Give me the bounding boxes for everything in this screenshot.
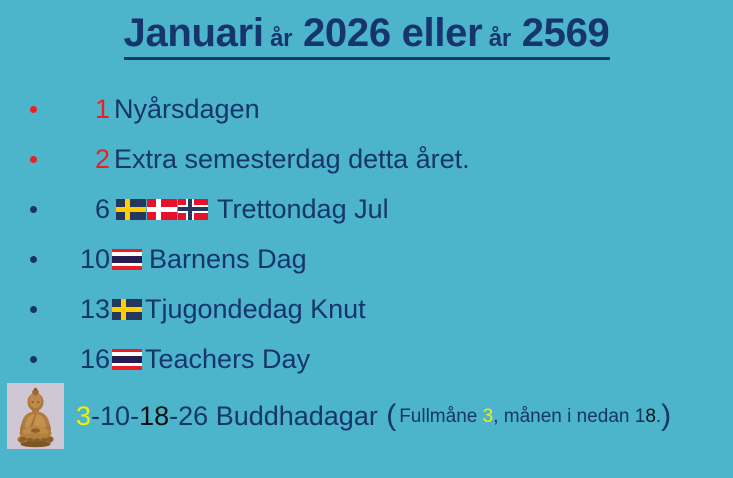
list-item-body: Nyårsdagen: [112, 96, 260, 123]
holiday-list: 1 Nyårsdagen 2 Extra semesterdag detta å…: [0, 84, 733, 384]
list-item-label: Nyårsdagen: [112, 96, 260, 123]
title-year-1: 2026: [292, 11, 391, 55]
moon-note: Fullmåne 3, månen i nedan 18.: [396, 407, 661, 426]
day-number: 10: [62, 246, 110, 273]
list-item: 6 Trettondag Jul: [0, 184, 733, 234]
bullet-icon: [30, 356, 37, 363]
thailand-flag-icon: [112, 249, 142, 270]
buddha-label: Buddhadagar: [208, 403, 378, 430]
buddha-statue-image: [7, 383, 64, 449]
moon-waning-day-digit-1: 1: [635, 406, 646, 427]
norway-flag-icon: [178, 199, 208, 220]
list-item-body: Teachers Day: [112, 346, 310, 373]
bullet-icon: [30, 206, 37, 213]
flag-group: [112, 299, 143, 320]
list-item-body: Extra semesterdag detta året.: [112, 146, 470, 173]
list-item: 2 Extra semesterdag detta året.: [0, 134, 733, 184]
moon-note-middle: , månen i nedan: [493, 406, 635, 427]
sweden-flag-icon: [112, 299, 142, 320]
list-item: 1 Nyårsdagen: [0, 84, 733, 134]
moon-waning-day-digit-2: 8: [645, 406, 656, 427]
bullet-icon: [30, 156, 37, 163]
day-number: 13: [62, 296, 110, 323]
buddha-day-3: 18: [139, 403, 169, 430]
day-number: 2: [62, 146, 110, 173]
list-item-body: Tjugondedag Knut: [112, 296, 366, 323]
list-item-body: Barnens Dag: [112, 246, 307, 273]
title-conjunction: eller: [391, 11, 483, 55]
slide-canvas: Januari år 2026 eller år 2569 1 Nyårsdag…: [0, 0, 733, 478]
flag-group: [112, 349, 143, 370]
list-item-label: Teachers Day: [143, 346, 310, 373]
sweden-flag-icon: [116, 199, 146, 220]
day-number: 1: [62, 96, 110, 123]
list-item-body: Trettondag Jul: [116, 196, 389, 223]
list-item: 10 Barnens Dag: [0, 234, 733, 284]
list-item-label: Trettondag Jul: [209, 196, 389, 223]
day-number: 6: [62, 196, 110, 223]
bullet-icon: [30, 256, 37, 263]
list-item-label: Extra semesterdag detta året.: [112, 146, 470, 173]
buddha-day-4: 26: [178, 403, 208, 430]
title-month: Januari: [124, 11, 264, 55]
buddha-day-2: 10: [100, 403, 130, 430]
moon-note-prefix: Fullmåne: [399, 406, 482, 427]
denmark-flag-icon: [147, 199, 177, 220]
moon-full-day: 3: [483, 406, 494, 427]
list-item-label: Barnens Dag: [143, 246, 307, 273]
page-title: Januari år 2026 eller år 2569: [0, 12, 733, 60]
thailand-flag-icon: [112, 349, 142, 370]
bullet-icon: [30, 106, 37, 113]
title-year-2: 2569: [511, 11, 610, 55]
buddha-days-row: 3-10-18-26 Buddhadagar (Fullmåne 3, måne…: [0, 383, 733, 453]
list-item: 13 Tjugondedag Knut: [0, 284, 733, 334]
flag-group: [112, 249, 143, 270]
bullet-icon: [30, 306, 37, 313]
buddha-separator-3: -: [169, 403, 178, 430]
paren-close: ): [661, 401, 671, 431]
buddha-days-text: 3-10-18-26 Buddhadagar (Fullmåne 3, måne…: [76, 383, 671, 449]
title-text: Januari år 2026 eller år 2569: [124, 12, 610, 60]
list-item-label: Tjugondedag Knut: [143, 296, 366, 323]
buddha-day-1: 3: [76, 403, 91, 430]
title-year-word-2: år: [482, 25, 510, 52]
flag-group: [116, 199, 209, 220]
list-item: 16 Teachers Day: [0, 334, 733, 384]
buddha-separator-2: -: [130, 403, 139, 430]
buddha-separator-1: -: [91, 403, 100, 430]
paren-open: (: [378, 401, 396, 431]
title-year-word-1: år: [264, 25, 292, 52]
day-number: 16: [62, 346, 110, 373]
